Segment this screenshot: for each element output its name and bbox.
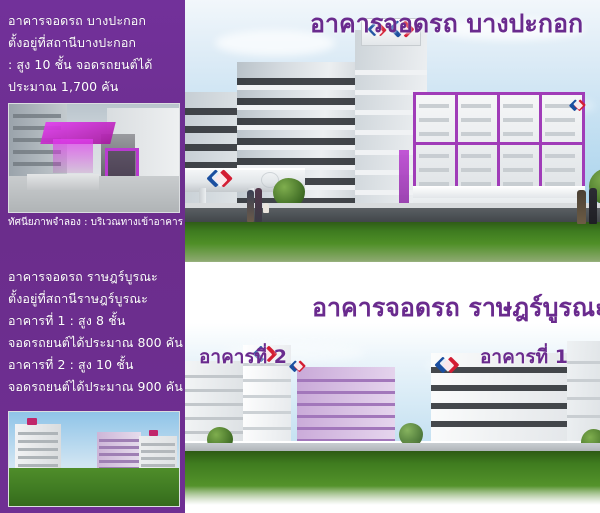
info-line: ตั้งอยู่ที่สถานีราษฎร์บูรณะ (8, 288, 180, 310)
info-line: อาคารที่ 1 : สูง 8 ชั้น (8, 310, 180, 332)
info-line: จอดรถยนต์ได้ประมาณ 900 คัน (8, 376, 180, 398)
inset2-lawn (9, 468, 179, 506)
info-line: อาคารที่ 2 : สูง 10 ชั้น (8, 354, 180, 376)
page-title-bangpakok: อาคารจอดรถ บางปะกอก (310, 9, 583, 39)
facade-canopy (413, 186, 585, 198)
inset2-building-a (15, 424, 61, 474)
person (577, 190, 586, 224)
hospital-logo-icon (571, 100, 585, 111)
facade-purple-grid (413, 92, 585, 196)
inset-canopy-underside (53, 139, 93, 173)
info-line: ตั้งอยู่ที่สถานีบางปะกอก (8, 32, 180, 54)
label-building-1: อาคารที่ 1 (480, 345, 568, 369)
info-text-bangpakok: อาคารจอดรถ บางปะกอก ตั้งอยู่ที่สถานีบางป… (8, 10, 180, 98)
building-2-purple-block (297, 367, 395, 449)
info-line: จอดรถยนต์ได้ประมาณ 800 คัน (8, 332, 180, 354)
inset2-roof-sign-a (27, 418, 37, 425)
inset-image-two-buildings (8, 411, 180, 507)
hospital-logo-icon (209, 170, 231, 187)
info-text-ratburana: อาคารจอดรถ ราษฎร์บูรณะ ตั้งอยู่ที่สถานีร… (8, 266, 180, 398)
inset-low-wall (27, 174, 99, 190)
label-building-2: อาคารที่ 2 (199, 345, 287, 369)
render-bangpakok-parking (185, 0, 600, 270)
hospital-logo-icon (291, 361, 305, 372)
person (589, 188, 597, 224)
person (247, 190, 254, 222)
left-info-column: อาคารจอดรถ บางปะกอก ตั้งอยู่ที่สถานีบางป… (0, 0, 185, 513)
person (255, 188, 262, 222)
info-line: : สูง 10 ชั้น จอดรถยนต์ได้ (8, 54, 180, 76)
page-title-ratburana: อาคารจอดรถ ราษฎร์บูรณะ (312, 293, 600, 323)
shopping-bag (263, 203, 269, 213)
infographic-canvas: อาคารจอดรถ บางปะกอก ตั้งอยู่ที่สถานีบางป… (0, 0, 600, 513)
bottom-fade (185, 486, 600, 513)
inset-caption: ทัศนียภาพจำลอง : บริเวณทางเข้าอาคาร (8, 216, 184, 230)
hospital-logo-icon (437, 357, 457, 372)
inset-image-entrance (8, 103, 180, 213)
info-line: ประมาณ 1,700 คัน (8, 76, 180, 98)
inset2-roof-sign-b (149, 430, 158, 436)
info-line: อาคารจอดรถ ราษฎร์บูรณะ (8, 266, 180, 288)
info-line: อาคารจอดรถ บางปะกอก (8, 10, 180, 32)
